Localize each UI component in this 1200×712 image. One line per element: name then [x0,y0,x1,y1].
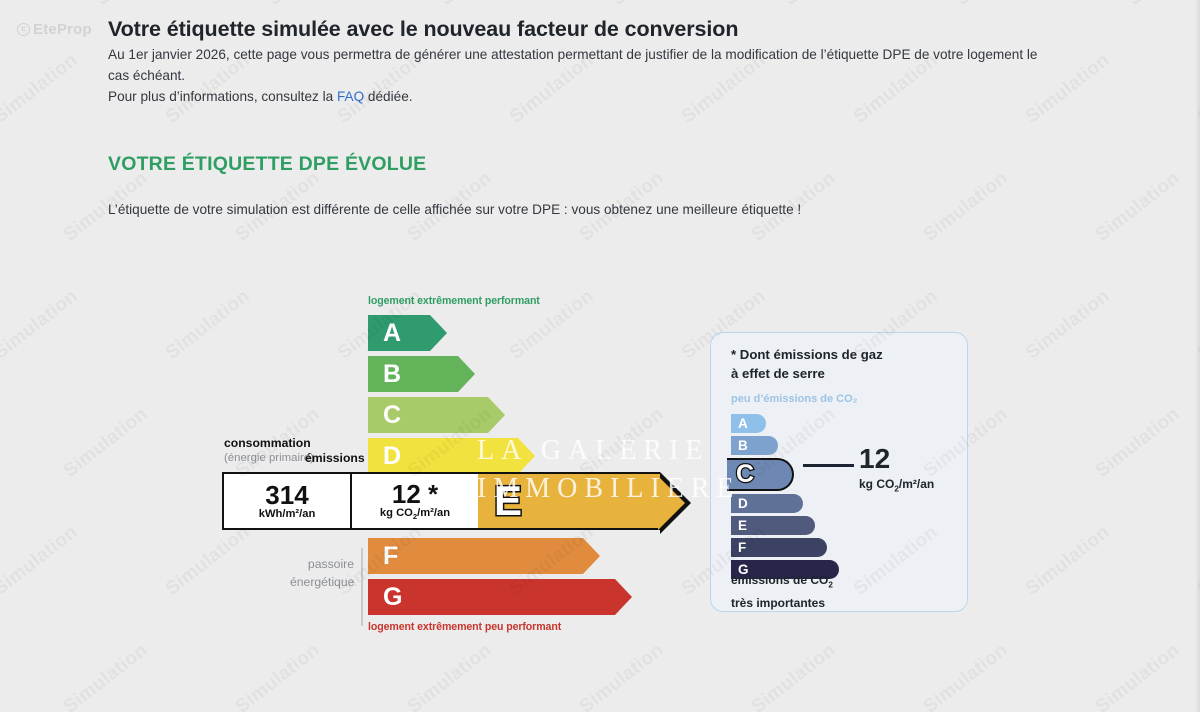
co2-class-letter-f: F [738,541,746,555]
co2-panel-title-line2: à effet de serre [731,364,883,383]
co2-class-letter-e: E [738,519,747,533]
dpe-class-letter-a: A [383,321,401,346]
dpe-class-bar-g: G [368,579,615,615]
label-consommation-main: consommation [224,436,314,451]
faq-paragraph: Pour plus d’informations, consultez la F… [108,86,1053,107]
dpe-class-bar-b: B [368,356,458,392]
label-consommation: consommation (énergie primaire) [224,436,314,466]
co2-panel-title-line1: * Dont émissions de gaz [731,345,883,364]
dpe-bar-shape-f: F [368,538,583,574]
co2-class-letter-a: A [738,417,748,431]
dpe-bar-arrow-f [583,538,600,574]
label-consommation-sub: (énergie primaire) [224,451,314,466]
consumption-value: 314 [265,482,308,508]
dpe-bar-arrow-a [430,315,447,351]
co2-bar-shape-c: C [727,458,794,491]
dpe-class-bar-f: F [368,538,583,574]
consumption-value-cell: 314 kWh/m²/an [224,474,350,528]
co2-bar-shape-a: A [731,414,766,433]
page-canvas: c EteProp Votre étiquette simulée avec l… [0,0,1200,712]
dpe-bar-shape-d: D [368,438,518,474]
co2-class-row-f: F [731,538,951,557]
label-passoire-line2: énergétique [290,573,354,591]
dpe-bar-shape-a: A [368,315,430,351]
dpe-class-bar-d: D [368,438,518,474]
dpe-caption-top: logement extrêmement performant [368,295,540,307]
dpe-value-box: 314 kWh/m²/an 12 * kg CO2/m²/an [222,472,478,530]
dpe-bar-arrow-c [488,397,505,433]
dpe-class-letter-c: C [383,403,401,428]
intro-paragraph: Au 1er janvier 2026, cette page vous per… [108,44,1053,86]
dpe-caption-bottom: logement extrêmement peu performant [368,621,561,633]
co2-value: 12 [859,445,934,473]
co2-caption-bottom-line1: émissions de CO2 [731,571,833,594]
co2-bar-shape-f: F [731,538,827,557]
co2-bar-shape-b: B [731,436,778,455]
co2-class-letter-d: D [738,497,748,511]
co2-caption-top: peu d’émissions de CO₂ [731,393,858,405]
co2-bar-shape-e: E [731,516,815,535]
dpe-class-bar-c: C [368,397,488,433]
dpe-current-arrow-fill [658,476,685,530]
faq-link[interactable]: FAQ [337,89,364,104]
dpe-class-letter-f: F [383,544,398,569]
copyright-watermark-label: EteProp [33,21,92,38]
co2-class-row-e: E [731,516,951,535]
dpe-current-class-bar: E [478,472,660,530]
emission-value: 12 * [392,481,438,507]
dpe-bar-arrow-d [518,438,535,474]
co2-unit: kg CO2/m²/an [859,478,934,494]
copyright-watermark: c EteProp [17,21,92,38]
co2-class-bars: ABCDEFG [731,414,951,582]
dpe-bar-shape-g: G [368,579,615,615]
faq-prefix-text: Pour plus d’informations, consultez la [108,89,337,104]
co2-panel: * Dont émissions de gaz à effet de serre… [710,332,968,612]
dpe-class-letter-b: B [383,362,401,387]
co2-class-letter-b: B [738,439,748,453]
dpe-current-rating-row: 314 kWh/m²/an 12 * kg CO2/m²/an E [222,472,660,530]
co2-class-row-a: A [731,414,951,433]
label-passoire-line1: passoire [290,555,354,573]
co2-panel-title: * Dont émissions de gaz à effet de serre [731,345,883,383]
co2-caption-bottom-line2: très importantes [731,594,833,612]
co2-caption-bottom: émissions de CO2 très importantes [731,571,833,612]
co2-class-row-d: D [731,494,951,513]
faq-suffix-text: dédiée. [364,89,412,104]
emission-value-cell: 12 * kg CO2/m²/an [350,474,478,528]
section-heading: VOTRE ÉTIQUETTE DPE ÉVOLUE [108,153,1058,176]
passoire-divider [361,548,363,626]
co2-leader-line [803,464,854,467]
co2-class-letter-c: C [736,462,754,487]
dpe-class-letter-g: G [383,585,402,610]
article-content: Votre étiquette simulée avec le nouveau … [108,14,1058,220]
label-emissions: émissions [305,451,365,465]
label-passoire: passoire énergétique [290,555,354,591]
co2-bar-shape-d: D [731,494,803,513]
dpe-energy-label: logement extrêmement performant logement… [0,290,1200,650]
dpe-class-bar-a: A [368,315,430,351]
co2-value-group: 12 kg CO2/m²/an [859,445,934,494]
consumption-unit: kWh/m²/an [259,509,316,520]
dpe-bar-shape-b: B [368,356,458,392]
dpe-current-class-letter: E [494,480,522,522]
dpe-bar-arrow-b [458,356,475,392]
section-description: L’étiquette de votre simulation est diff… [108,199,1058,220]
dpe-class-letter-d: D [383,444,401,469]
emission-unit: kg CO2/m²/an [380,508,450,521]
dpe-bar-arrow-g [615,579,632,615]
dpe-bar-shape-c: C [368,397,488,433]
page-title: Votre étiquette simulée avec le nouveau … [108,14,1058,44]
copyright-icon: c [17,23,30,36]
